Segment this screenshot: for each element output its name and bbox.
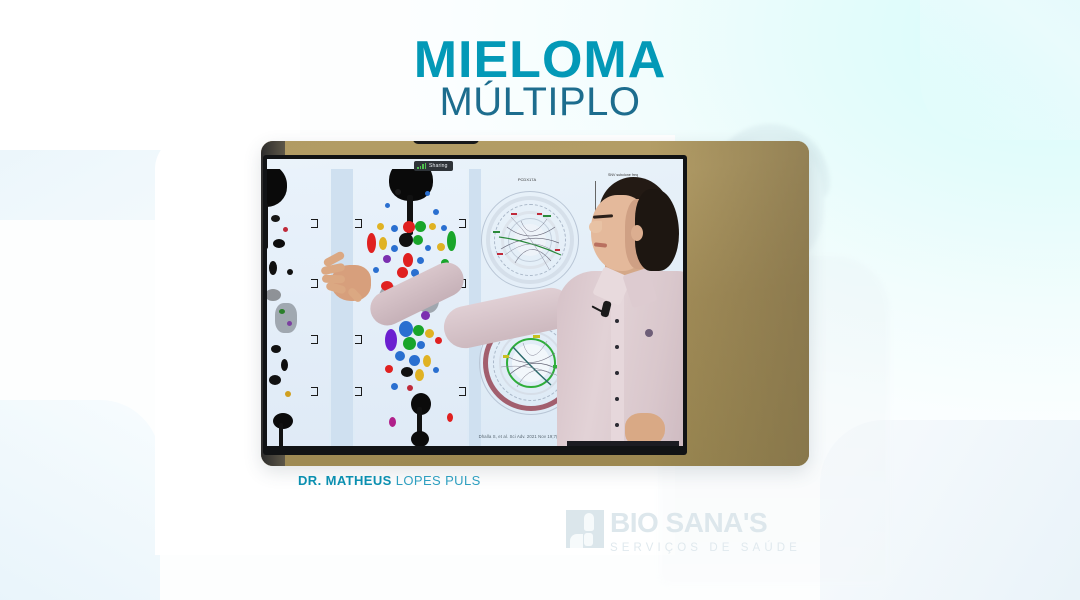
presenter-nose: [589, 221, 602, 233]
shirt-button: [615, 319, 619, 323]
title-sub: MÚLTIPLO: [0, 82, 1080, 122]
presenter-figure: [539, 159, 683, 446]
sharing-label: Sharing: [429, 163, 448, 169]
tv-display: Sharing: [263, 155, 687, 455]
logo-mark-cut-mid: [584, 533, 593, 546]
signal-bars-icon: [417, 163, 426, 169]
brand-logo: BIO SANA'S SERVIÇOS DE SAÚDE: [566, 508, 812, 564]
logo-wordmark: BIO SANA'S: [610, 508, 767, 539]
sharing-status-badge: Sharing: [414, 161, 453, 171]
title-main: MIELOMA: [0, 34, 1080, 86]
background-shape-bottom-left: [0, 400, 160, 600]
presenter-ear: [631, 225, 643, 241]
bio-sanas-logo-mark: [566, 510, 604, 548]
pet-scan-gap-b: [331, 169, 353, 446]
tv-camera-bar: [413, 141, 479, 144]
logo-tagline: SERVIÇOS DE SAÚDE: [610, 542, 801, 554]
shirt-button: [615, 397, 619, 401]
tv-screen: Sharing: [267, 159, 683, 446]
presenter-pointing-hand: [321, 247, 379, 303]
shirt-embroidery: [645, 329, 653, 337]
page-title: MIELOMA MÚLTIPLO: [0, 34, 1080, 122]
pet-scan-panel-a: [267, 169, 329, 446]
logo-mark-cut-bottom: [570, 534, 583, 548]
logo-mark-cut-top: [584, 513, 594, 531]
presentation-photo: Sharing: [261, 141, 809, 466]
caption-surname: LOPES PULS: [392, 473, 481, 488]
presenter-caption: DR. MATHEUS LOPES PULS: [298, 473, 481, 488]
shirt-button: [615, 371, 619, 375]
shirt-button: [615, 345, 619, 349]
caption-name: DR. MATHEUS: [298, 473, 392, 488]
shirt-button: [615, 423, 619, 427]
presenter-belt: [567, 441, 679, 446]
